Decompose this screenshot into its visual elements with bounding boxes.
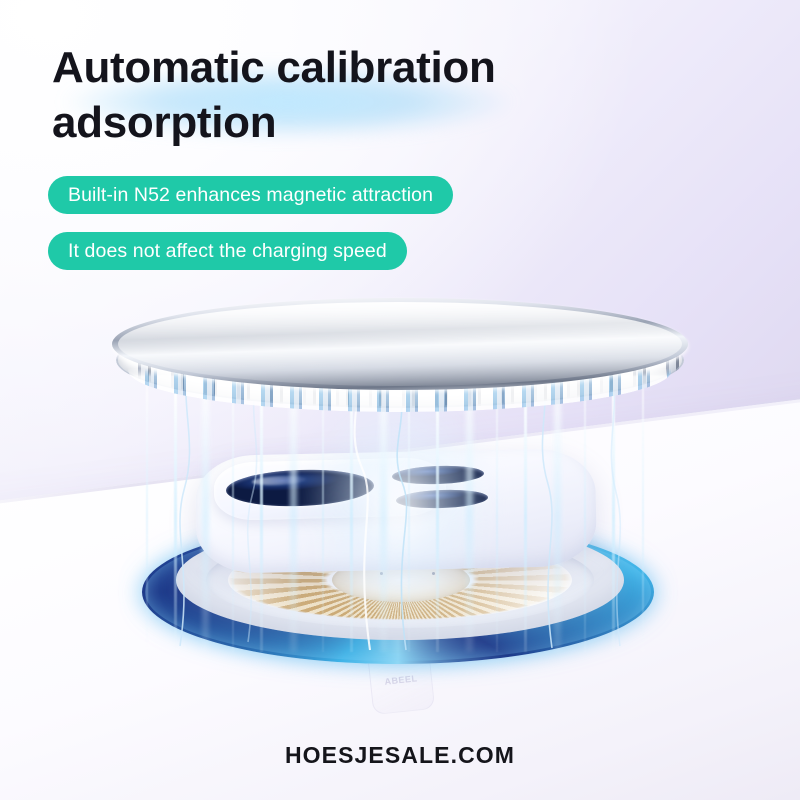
page-title: Automatic calibration adsorption bbox=[52, 40, 692, 151]
feature-badge-magnetic: Built-in N52 enhances magnetic attractio… bbox=[48, 176, 453, 214]
magnet-ring bbox=[112, 298, 688, 416]
site-watermark: HOESJESALE.COM bbox=[0, 742, 800, 769]
feature-badge-charging-speed: It does not affect the charging speed bbox=[48, 232, 407, 270]
product-emboss-label: ABEEL bbox=[384, 673, 418, 686]
magnet-ring-top-highlight bbox=[118, 302, 682, 386]
product-feature-banner: ABEEL bbox=[0, 0, 800, 800]
magnetic-core-flare bbox=[300, 380, 500, 630]
